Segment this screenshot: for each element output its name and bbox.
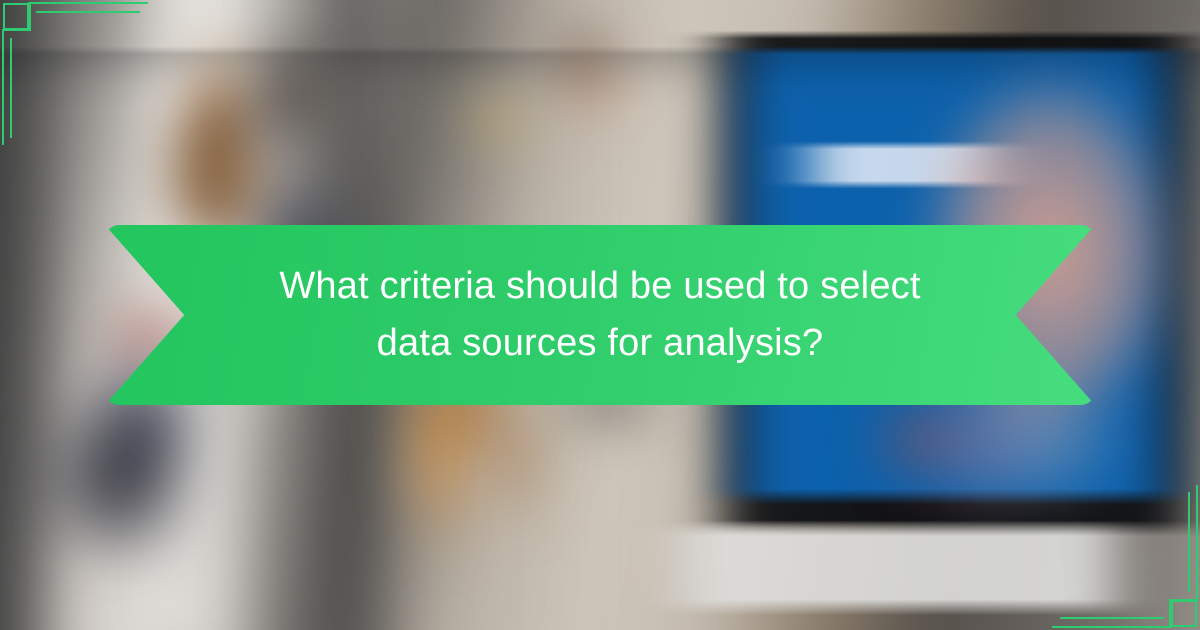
question-text: What criteria should be used to select d… bbox=[105, 225, 1095, 405]
question-ribbon: What criteria should be used to select d… bbox=[105, 225, 1095, 405]
quote-card: What criteria should be used to select d… bbox=[0, 0, 1200, 630]
